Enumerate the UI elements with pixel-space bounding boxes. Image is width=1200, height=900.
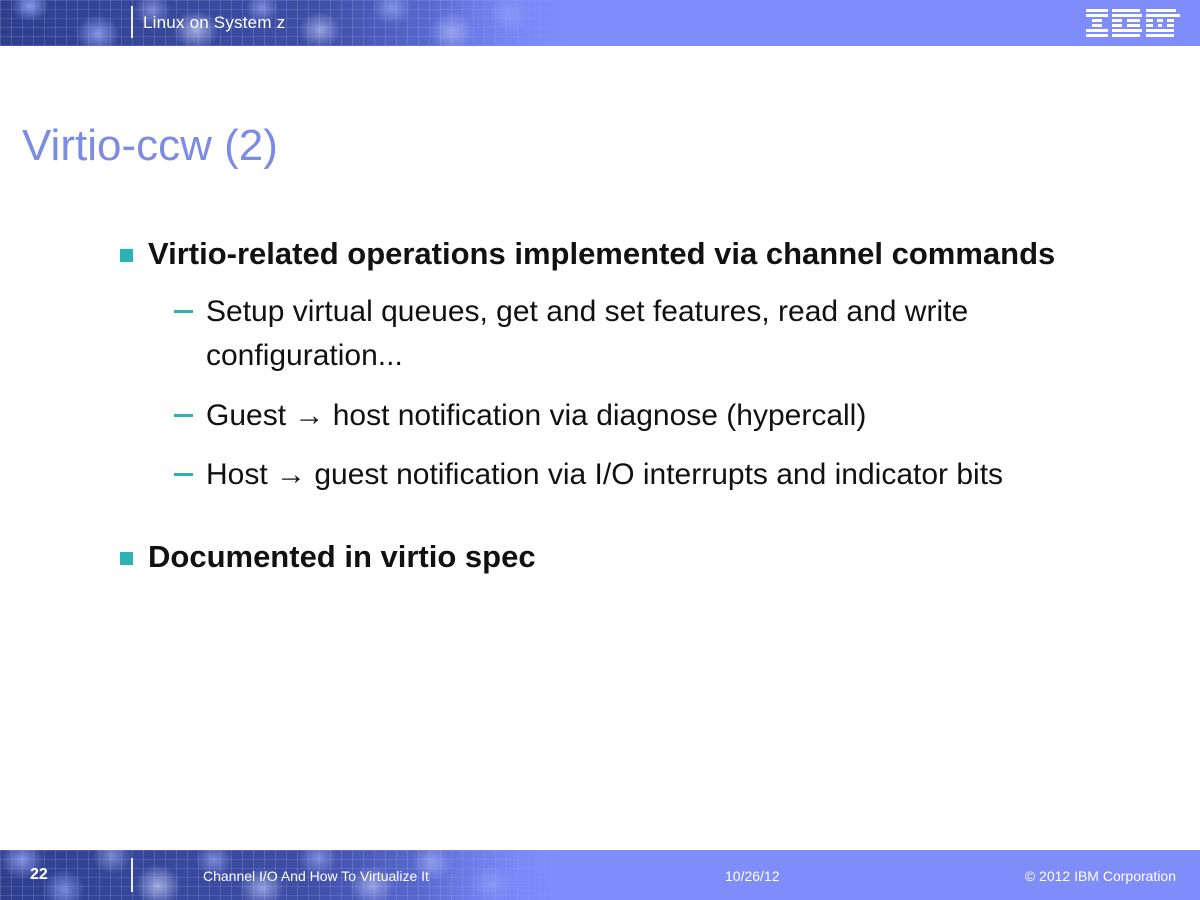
dash-bullet-icon <box>174 414 193 417</box>
header-texture-fade <box>430 0 610 46</box>
slide-title: Virtio-ccw (2) <box>22 121 278 171</box>
content-spacer <box>118 513 1158 535</box>
slide-footer-banner: 22 Channel I/O And How To Virtualize It … <box>0 850 1200 900</box>
bullet-level1: Documented in virtio spec <box>118 535 1158 579</box>
ibm-logo <box>1086 8 1182 40</box>
brand-label: Linux on System z <box>143 13 285 33</box>
footer-divider-line <box>131 858 133 892</box>
bullet-level2: Host → guest notification via I/O interr… <box>118 453 1158 497</box>
bullet-text: Guest → host notification via diagnose (… <box>206 399 866 432</box>
presentation-slide: Linux on System z <box>0 0 1200 900</box>
header-divider-line <box>131 6 133 38</box>
dash-bullet-icon <box>174 473 193 476</box>
bullet-text: Setup virtual queues, get and set featur… <box>206 295 968 372</box>
bullet-level2: Guest → host notification via diagnose (… <box>118 394 1158 438</box>
square-bullet-icon <box>120 552 133 565</box>
dash-bullet-icon <box>174 310 193 313</box>
square-bullet-icon <box>120 249 133 262</box>
slide-header-banner: Linux on System z <box>0 0 1200 46</box>
bullet-level2: Setup virtual queues, get and set featur… <box>118 290 1158 378</box>
slide-page-number: 22 <box>30 866 48 884</box>
footer-date-label: 10/26/12 <box>725 868 780 884</box>
sub-bullet-list: Setup virtual queues, get and set featur… <box>118 290 1158 497</box>
bullet-level1: Virtio-related operations implemented vi… <box>118 232 1158 276</box>
footer-texture-fade <box>420 850 610 900</box>
footer-copyright-label: © 2012 IBM Corporation <box>1025 868 1176 884</box>
slide-body: Virtio-related operations implemented vi… <box>118 232 1158 593</box>
bullet-text: Documented in virtio spec <box>148 539 536 574</box>
bullet-text: Virtio-related operations implemented vi… <box>148 236 1055 271</box>
footer-subject-label: Channel I/O And How To Virtualize It <box>203 868 429 884</box>
bullet-text: Host → guest notification via I/O interr… <box>206 458 1003 491</box>
